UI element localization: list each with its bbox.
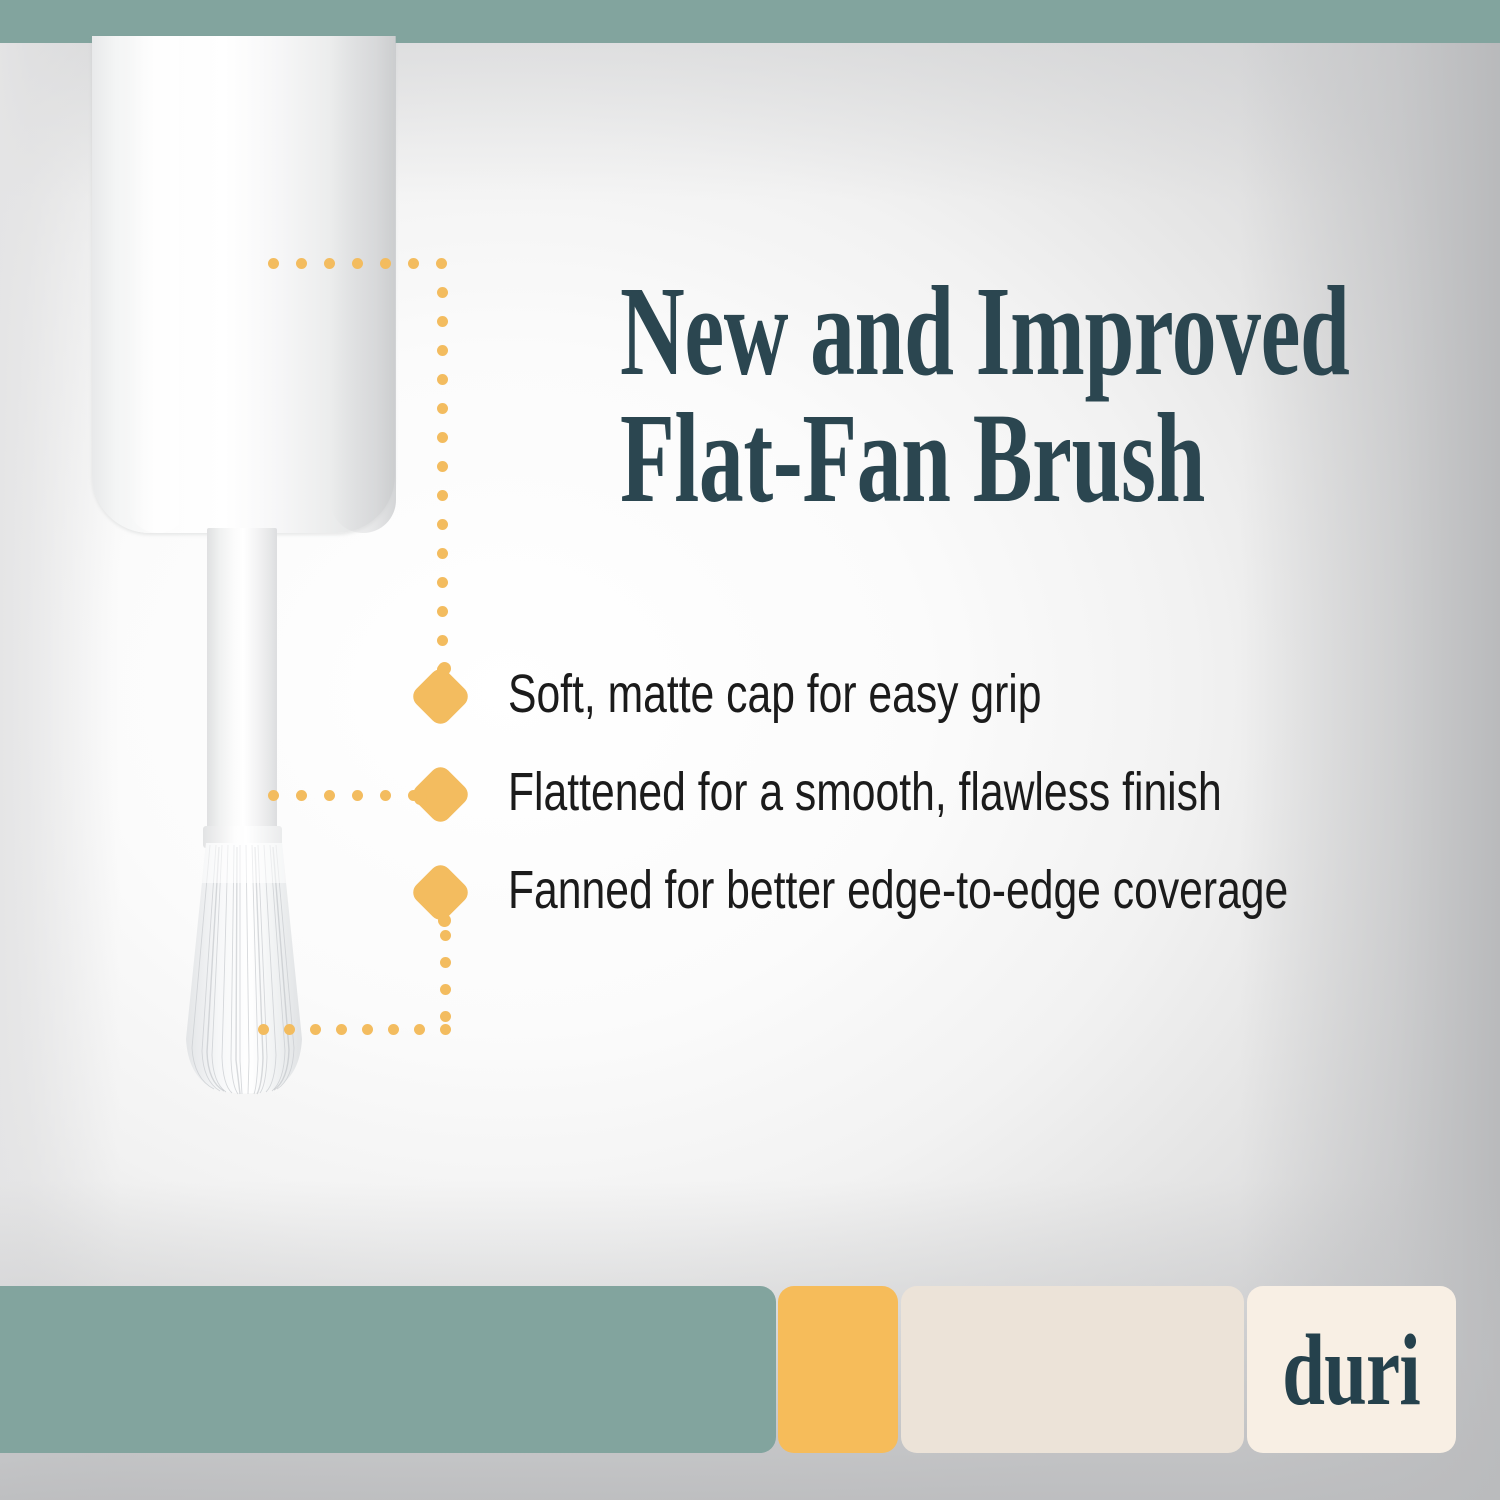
footer-block-amber (778, 1286, 898, 1453)
connector-nub-icon (414, 792, 427, 805)
feature-label: Soft, matte cap for easy grip (508, 660, 1042, 728)
feature-item-soft-matte-cap: Soft, matte cap for easy grip (418, 660, 1478, 748)
feature-label: Fanned for better edge-to-edge coverage (508, 856, 1288, 924)
headline-line-1: New and Improved (620, 268, 1180, 395)
brand-wordmark: duri (1283, 1319, 1421, 1421)
feature-label: Flattened for a smooth, flawless finish (508, 758, 1222, 826)
footer-block-logo: duri (1247, 1286, 1456, 1453)
brush-stem (207, 528, 277, 846)
feature-item-flattened-finish: Flattened for a smooth, flawless finish (418, 758, 1478, 846)
product-image (0, 0, 560, 1140)
headline-line-2: Flat-Fan Brush (620, 395, 1180, 522)
connector-nub-icon (438, 662, 451, 675)
brush-bristles (176, 843, 312, 1098)
feature-item-fanned-coverage: Fanned for better edge-to-edge coverage (418, 856, 1478, 944)
footer-block-green (0, 1286, 776, 1453)
feature-list: Soft, matte cap for easy grip Flattened … (418, 660, 1478, 944)
connector-nub-icon (438, 914, 451, 927)
infographic-canvas: New and Improved Flat-Fan Brush Soft, ma… (0, 0, 1500, 1500)
headline: New and Improved Flat-Fan Brush (620, 268, 1180, 521)
polish-cap (92, 36, 395, 533)
footer-bar: duri (0, 1286, 1500, 1500)
footer-block-beige (901, 1286, 1244, 1453)
